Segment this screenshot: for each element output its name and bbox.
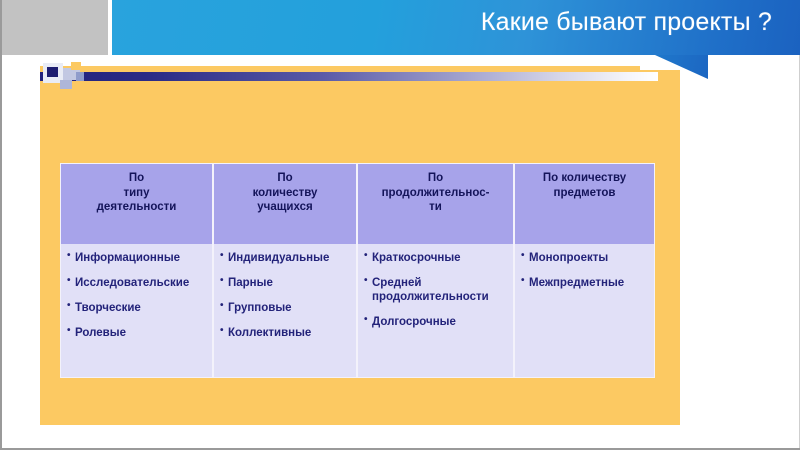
list-item: Средней продолжительности (364, 276, 513, 304)
table-header-cell-student-count: По количеству учащихся (214, 164, 358, 244)
decorative-bar (40, 62, 680, 86)
list-item: Парные (220, 276, 356, 290)
header-line: предметов (554, 187, 616, 199)
slide-body-panel: Типология проектов По типу деятельности … (40, 70, 680, 425)
header-line: продолжительнос- (382, 187, 490, 199)
list-item: Групповые (220, 301, 356, 315)
header-line: деятельности (97, 201, 177, 213)
header-title: Какие бывают проекты ? (481, 8, 772, 37)
list-student-count: Индивидуальные Парные Групповые Коллекти… (220, 251, 356, 340)
header-line: По (129, 172, 144, 184)
list-item: Межпредметные (521, 276, 654, 290)
decorative-bar-bottom-stripe (40, 81, 640, 85)
header-line: По количеству (543, 172, 626, 184)
slide-screen: Какие бывают проекты ? Типология проекто… (0, 0, 800, 450)
list-item: Индивидуальные (220, 251, 356, 265)
list-duration: Краткосрочные Средней продолжительности … (364, 251, 513, 329)
table-cell-activity-type: Информационные Исследовательские Творчес… (61, 244, 214, 377)
list-item: Монопроекты (521, 251, 654, 265)
list-item: Краткосрочные (364, 251, 513, 265)
list-subject-count: Монопроекты Межпредметные (521, 251, 654, 290)
header-line: По (277, 172, 292, 184)
decorative-square-icon (60, 80, 72, 89)
decorative-square-icon (76, 72, 84, 81)
list-item: Исследовательские (67, 276, 212, 290)
list-item: Творческие (67, 301, 212, 315)
table-cell-student-count: Индивидуальные Парные Групповые Коллекти… (214, 244, 358, 377)
table-body-row: Информационные Исследовательские Творчес… (61, 244, 654, 377)
header-line: количеству (253, 187, 318, 199)
list-item: Ролевые (67, 326, 212, 340)
typology-table: По типу деятельности По количеству учащи… (60, 163, 655, 378)
decorative-square-icon (47, 67, 58, 77)
list-item: Долгосрочные (364, 315, 513, 329)
header-line: учащихся (257, 201, 312, 213)
table-header-cell-subject-count: По количеству предметов (515, 164, 654, 244)
table-cell-subject-count: Монопроекты Межпредметные (515, 244, 654, 377)
list-item: Коллективные (220, 326, 356, 340)
table-header-cell-activity-type: По типу деятельности (61, 164, 214, 244)
header-line: ти (429, 201, 442, 213)
table-header-row: По типу деятельности По количеству учащи… (61, 164, 654, 244)
header-line: типу (123, 187, 149, 199)
decorative-gradient-bar (40, 72, 658, 81)
table-header-cell-duration: По продолжительнос- ти (358, 164, 515, 244)
decorative-bar-top-stripe (40, 66, 640, 71)
list-item: Информационные (67, 251, 212, 265)
decorative-square-icon (71, 62, 81, 70)
header-line: По (428, 172, 443, 184)
table-cell-duration: Краткосрочные Средней продолжительности … (358, 244, 515, 377)
header-gray-block (2, 0, 108, 55)
list-activity-type: Информационные Исследовательские Творчес… (67, 251, 212, 340)
